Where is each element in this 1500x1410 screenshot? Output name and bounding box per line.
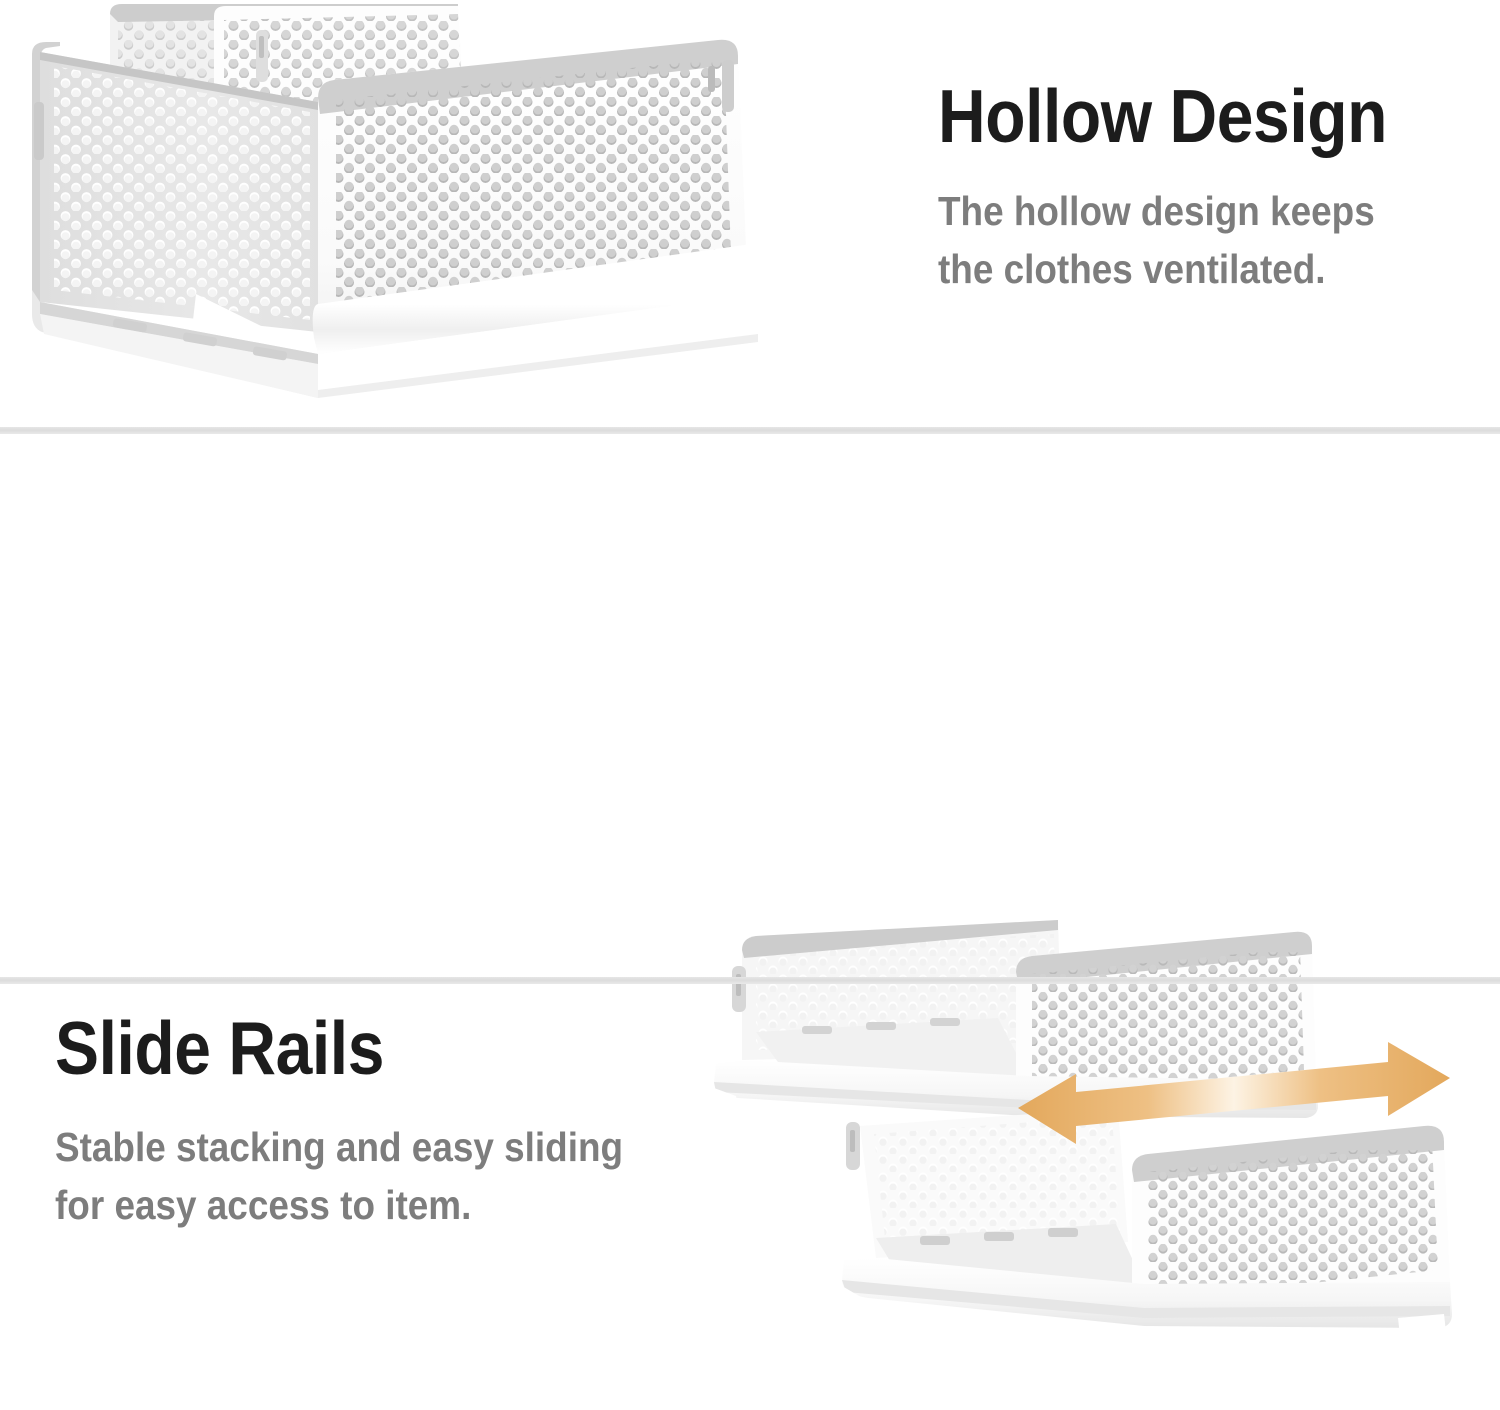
panel-reinforced-snap: Reinforced Snap Reinforced buckles to in… — [0, 984, 1500, 1410]
section-divider — [0, 427, 1500, 434]
section-divider — [0, 977, 1500, 984]
panel-hollow-design: Hollow Design The hollow design keeps th… — [0, 0, 1500, 428]
body-hollow-design: The hollow design keeps the clothes vent… — [938, 182, 1397, 298]
body-line: the clothes ventilated. — [938, 240, 1397, 298]
heading-hollow-design: Hollow Design — [938, 80, 1387, 154]
product-image-hollow-basket — [18, 2, 818, 402]
text-block-hollow-design: Hollow Design The hollow design keeps th… — [938, 80, 1448, 298]
panel-slide-rails: Slide Rails Stable stacking and easy sli… — [0, 434, 1500, 978]
body-line: The hollow design keeps — [938, 182, 1397, 240]
product-feature-infographic: Hollow Design The hollow design keeps th… — [0, 0, 1500, 1410]
